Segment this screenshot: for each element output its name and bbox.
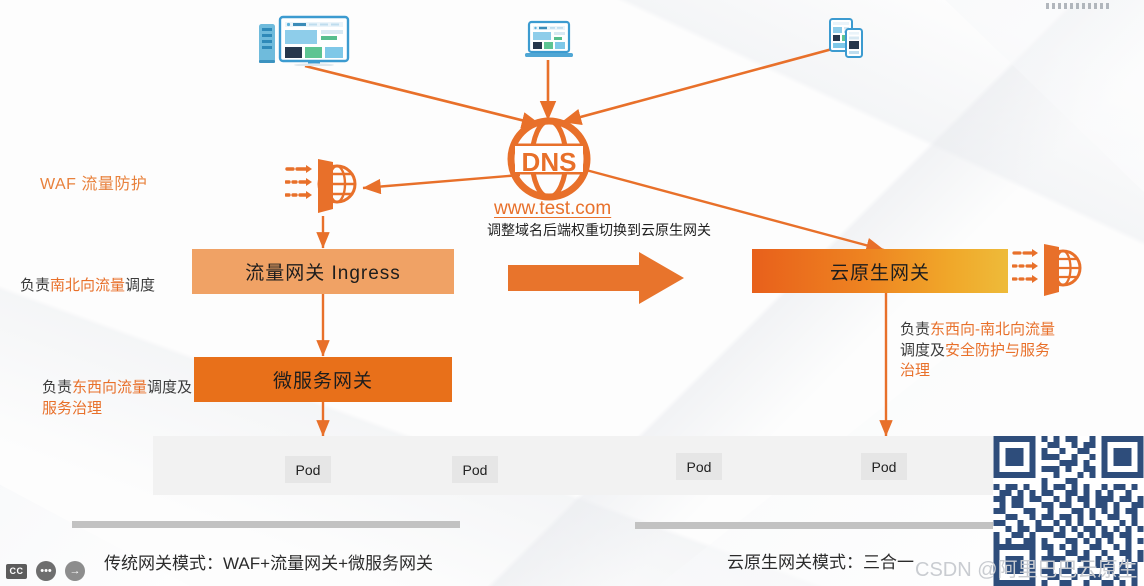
pod-label: Pod (463, 462, 488, 478)
list-item[interactable]: Pod (285, 456, 331, 483)
ingress-note-accent: 南北向流量 (50, 277, 125, 294)
pod-label: Pod (687, 459, 712, 475)
micro-note-accent-2: 服务治理 (42, 400, 102, 417)
tablet-phone-icon (828, 18, 868, 63)
cng-note-mid: 调度及 (900, 342, 945, 359)
ingress-note-suffix: 调度 (125, 277, 155, 294)
cloud-native-gateway-box[interactable]: 云原生网关 (752, 249, 1008, 293)
pod-label: Pod (872, 459, 897, 475)
divider (72, 521, 460, 528)
cloud-native-gateway-note: 负责东西向-南北向流量调度及安全防护与服务治理 (900, 300, 1060, 381)
cloud-native-gateway-label: 云原生网关 (830, 258, 930, 285)
right-block-arrow-icon (508, 252, 684, 309)
laptop-icon (525, 20, 573, 65)
cng-note-accent-2: 向流量 (1010, 321, 1055, 338)
micro-note-accent-1: 东西向流量 (72, 379, 147, 396)
list-item[interactable]: Pod (676, 453, 722, 480)
list-item[interactable]: Pod (861, 453, 907, 480)
dns-note: 调整域名后端权重切换到云原生网关 (487, 220, 711, 240)
player-control-bar: CC ••• → (6, 561, 85, 581)
traffic-gateway-ingress-label: 流量网关 Ingress (245, 258, 401, 285)
left-mode-caption: 传统网关模式：WAF+流量网关+微服务网关 (104, 549, 433, 574)
watermark: CSDN @阿里巴巴云原生 (915, 553, 1138, 582)
micro-note-suffix: 调 (147, 379, 162, 396)
waf-shield-globe-icon (1012, 242, 1084, 307)
cng-note-accent-3: 安全 (945, 342, 975, 359)
microservice-note: 负责东西向流量调度及服务治理 (42, 358, 194, 419)
cng-note-accent-1: 东西向-南北 (930, 321, 1010, 338)
dns-url-link[interactable]: www.test.com (494, 198, 611, 220)
divider (635, 522, 997, 529)
more-options-button[interactable]: ••• (36, 561, 56, 581)
ingress-note-prefix: 负责 (20, 277, 50, 294)
pod-label: Pod (296, 462, 321, 478)
cng-note-prefix: 负责 (900, 321, 930, 338)
list-item[interactable]: Pod (452, 456, 498, 483)
next-button[interactable]: → (65, 561, 85, 581)
server-desktop-icon (258, 14, 350, 71)
microservice-gateway-box[interactable]: 微服务网关 (194, 357, 452, 402)
top-right-dot-marks (1046, 3, 1109, 9)
microservice-gateway-label: 微服务网关 (273, 366, 373, 393)
traffic-gateway-ingress-box[interactable]: 流量网关 Ingress (192, 249, 454, 294)
closed-caption-button[interactable]: CC (6, 564, 27, 579)
dns-text: DNS (522, 147, 577, 177)
waf-shield-globe-icon (285, 157, 357, 224)
waf-label: WAF 流量防护 (40, 170, 147, 194)
micro-note-prefix: 负责 (42, 379, 72, 396)
background-shape (860, 0, 1144, 240)
diagram-canvas: DNS www.test.com 调整域名后端权重切换到云原生网关 WAF 流量… (0, 0, 1144, 586)
dns-globe-icon: DNS (503, 113, 595, 210)
right-mode-caption: 云原生网关模式：三合一 (727, 548, 914, 573)
ingress-note: 负责南北向流量调度 (20, 256, 200, 297)
micro-note-line2-prefix: 度及 (162, 379, 192, 396)
